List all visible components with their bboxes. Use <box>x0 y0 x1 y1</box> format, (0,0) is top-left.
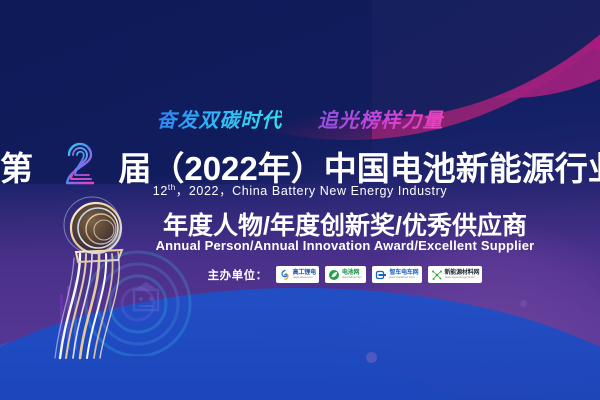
tagline: 奋发双碳时代 追光榜样力量 <box>0 104 600 133</box>
banner-content: 奋发双碳时代 追光榜样力量 第 <box>0 0 600 400</box>
event-title-english: 12th，2022，China Battery New Energy Indus… <box>0 180 600 199</box>
title-en-ordinal: 12 <box>153 184 168 198</box>
sponsor-logo-1-url: www.cbea.com <box>293 276 314 279</box>
event-banner: 奋发双碳时代 追光榜样力量 第 <box>0 0 600 400</box>
sponsor-logo-1-text: 高工锂电 www.cbea.com <box>293 270 316 279</box>
leaf-circle-icon <box>328 269 340 281</box>
tagline-segment-b: 追光榜样力量 <box>318 110 444 132</box>
title-en-rest: ，2022，China Battery New Energy Industry <box>176 184 447 198</box>
swirl-icon <box>279 269 291 281</box>
sponsor-logo-4-url: www.newenergycl.com <box>445 276 477 279</box>
sponsor-logo-2-url: www.itdcw.com <box>342 276 362 279</box>
title-en-ordinal-suffix: th <box>168 183 176 192</box>
sponsor-logo-1[interactable]: 高工锂电 www.cbea.com <box>276 266 319 283</box>
sponsors-label: 主办单位： <box>208 267 268 283</box>
award-categories-english: Annual Person/Annual Innovation Award/Ex… <box>130 238 560 253</box>
award-categories-chinese: 年度人物/年度创新奖/优秀供应商 <box>130 206 560 242</box>
sponsor-logo-4-text: 新能源材料网 www.newenergycl.com <box>445 270 480 279</box>
sponsor-logo-3-text: 智车电车网 www.evpartner.com <box>389 270 418 279</box>
sponsor-logo-2[interactable]: 电池网 www.itdcw.com <box>325 266 367 283</box>
tagline-segment-a: 奋发双碳时代 <box>156 110 282 132</box>
sponsor-logo-4[interactable]: 新能源材料网 www.newenergycl.com <box>428 266 483 283</box>
sponsor-logo-2-text: 电池网 www.itdcw.com <box>342 270 364 279</box>
sponsors-row: 主办单位： 高工锂电 www.cbea.com 电池网 ww <box>130 266 560 283</box>
sponsor-logo-3-url: www.evpartner.com <box>389 276 416 279</box>
molecule-icon <box>431 269 443 281</box>
plug-icon <box>375 269 387 281</box>
sponsor-logo-3[interactable]: 智车电车网 www.evpartner.com <box>372 266 421 283</box>
